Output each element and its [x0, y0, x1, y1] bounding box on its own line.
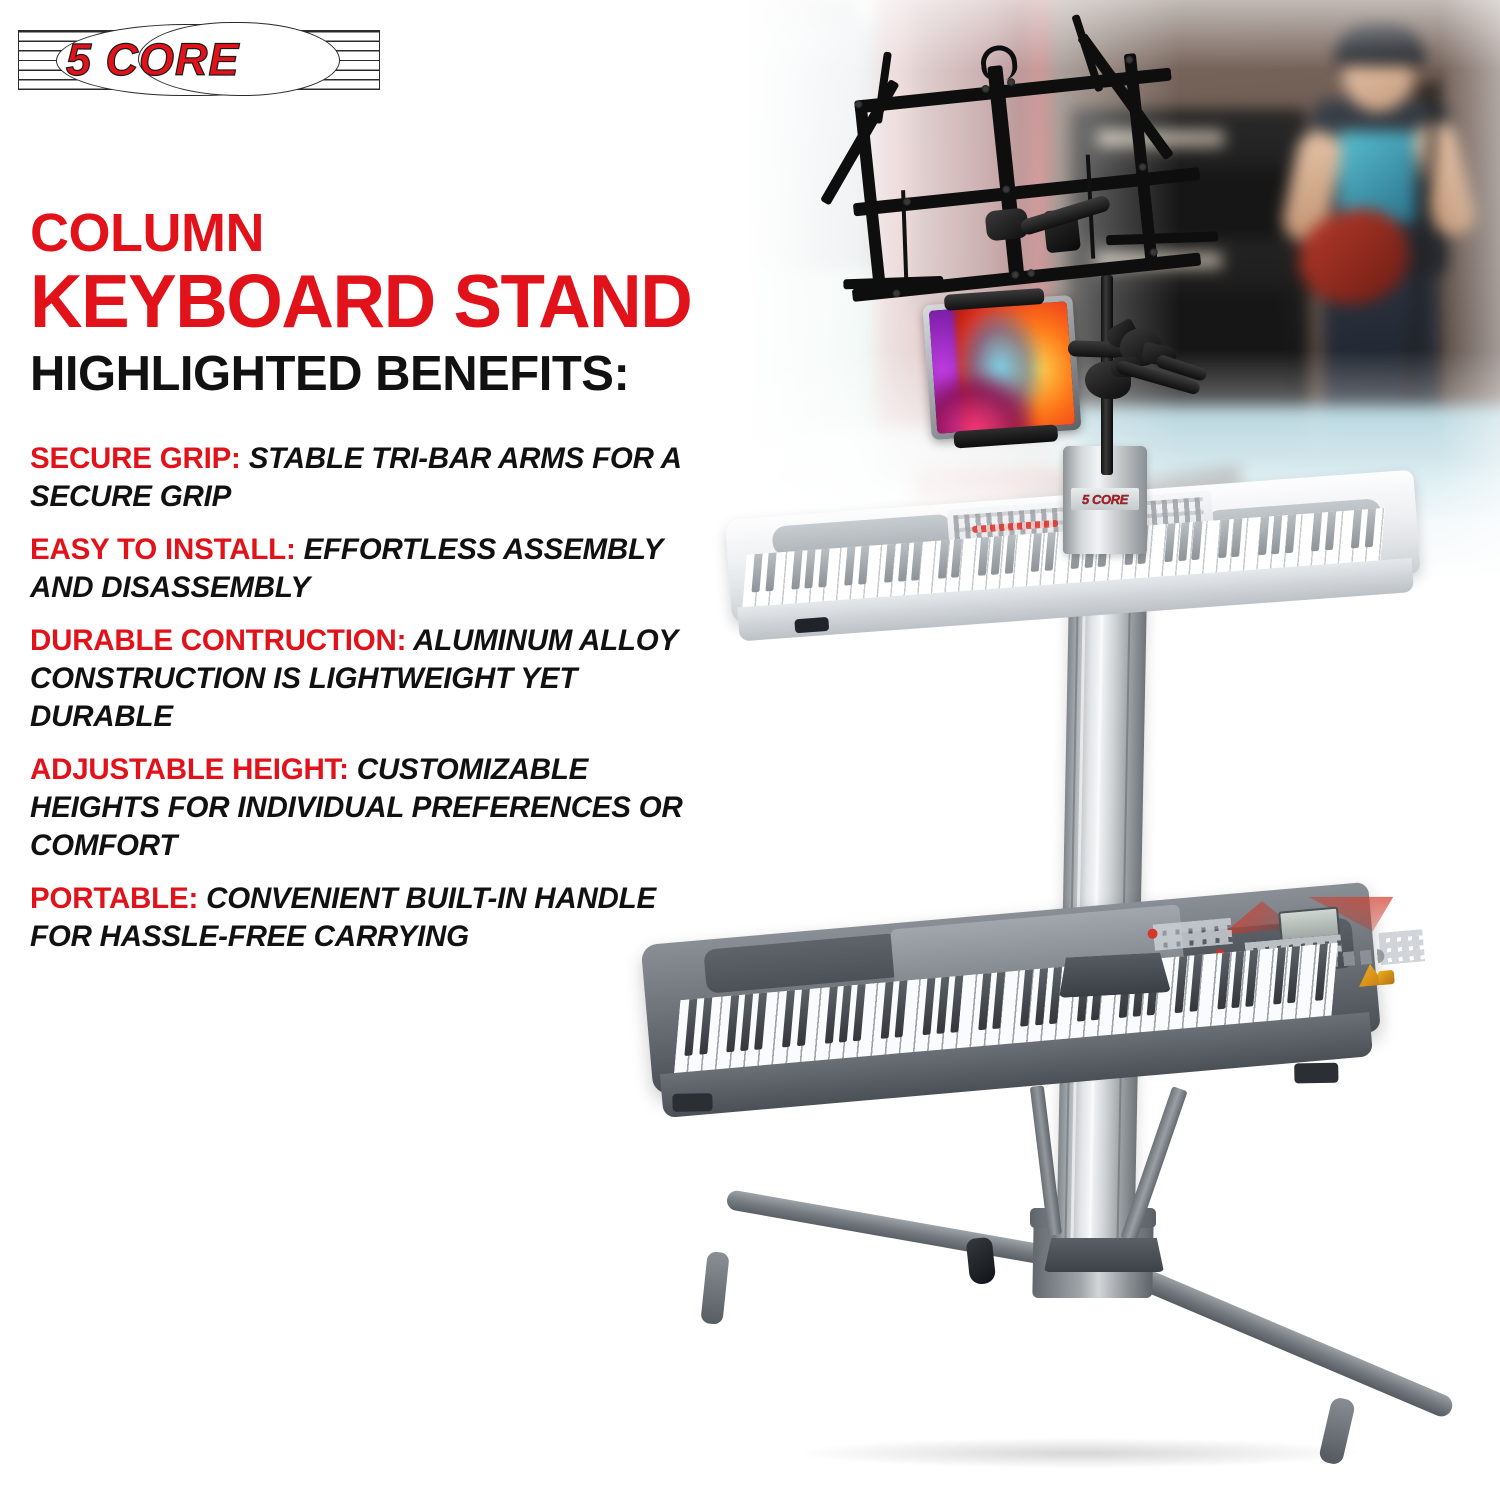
benefit-item: EASY TO INSTALL: EFFORTLESS ASSEMBLY AND…: [30, 531, 720, 607]
column-brand-text: 5 CORE: [1082, 492, 1128, 507]
benefit-label: DURABLE CONTRUCTION:: [30, 624, 406, 657]
ground-shadow: [800, 1438, 1360, 1468]
base-leg-right: [1116, 1259, 1456, 1420]
benefit-item: ADJUSTABLE HEIGHT: CUSTOMIZABLE HEIGHTS …: [30, 751, 720, 865]
base-foot-left: [700, 1251, 729, 1325]
benefit-label: PORTABLE:: [30, 882, 198, 915]
music-sheet-stand: [826, 8, 1214, 329]
locking-knob[interactable]: [966, 1237, 997, 1285]
base-leg-left: [725, 1189, 1063, 1268]
column-brand-sticker: 5 CORE: [1071, 488, 1139, 510]
benefits-list: SECURE GRIP: STABLE TRI-BAR ARMS FOR A S…: [30, 440, 720, 971]
column-highlight-ridge: [1088, 552, 1104, 1252]
benefit-item: PORTABLE: CONVENIENT BUILT-IN HANDLE FOR…: [30, 880, 720, 956]
benefit-label: EASY TO INSTALL:: [30, 533, 296, 566]
keyboard-foot-left: [672, 1093, 712, 1112]
keyboard-jack-icon: [794, 617, 829, 633]
upper-tray-bracket: [1057, 952, 1171, 998]
tablet-wallpaper: [929, 301, 1075, 433]
logo-text: 5 CORE: [66, 32, 366, 88]
lower-tier-keyboard: [641, 882, 1387, 1160]
panel-numeric-keypad[interactable]: [1378, 929, 1425, 965]
sheet-stand-lip-right: [1106, 231, 1218, 245]
product-infographic: 5 CORE COLUMN KEYBOARD STAND HIGHLIGHTED…: [0, 0, 1500, 1500]
tablet-screen[interactable]: [929, 301, 1075, 433]
brand-logo: 5 CORE: [18, 24, 378, 96]
sheet-stand-tilt-joint[interactable]: [1075, 355, 1185, 405]
product-image: 5 CORE: [620, 0, 1500, 1500]
panel-amber-badge-2-icon: [1378, 970, 1395, 985]
benefit-item: SECURE GRIP: STABLE TRI-BAR ARMS FOR A S…: [30, 440, 720, 516]
lower-tray-bracket: [1044, 1238, 1164, 1272]
keyboard-foot-right: [1294, 1063, 1338, 1084]
wallpaper-pink-glow: [929, 371, 1039, 433]
sheet-stand-brace-right: [1077, 33, 1174, 161]
sheet-stand-brace-left: [820, 79, 900, 206]
benefit-item: DURABLE CONTRUCTION: ALUMINUM ALLOY CONS…: [30, 622, 720, 736]
benefit-label: ADJUSTABLE HEIGHT:: [30, 753, 349, 786]
benefit-label: SECURE GRIP:: [30, 442, 241, 475]
